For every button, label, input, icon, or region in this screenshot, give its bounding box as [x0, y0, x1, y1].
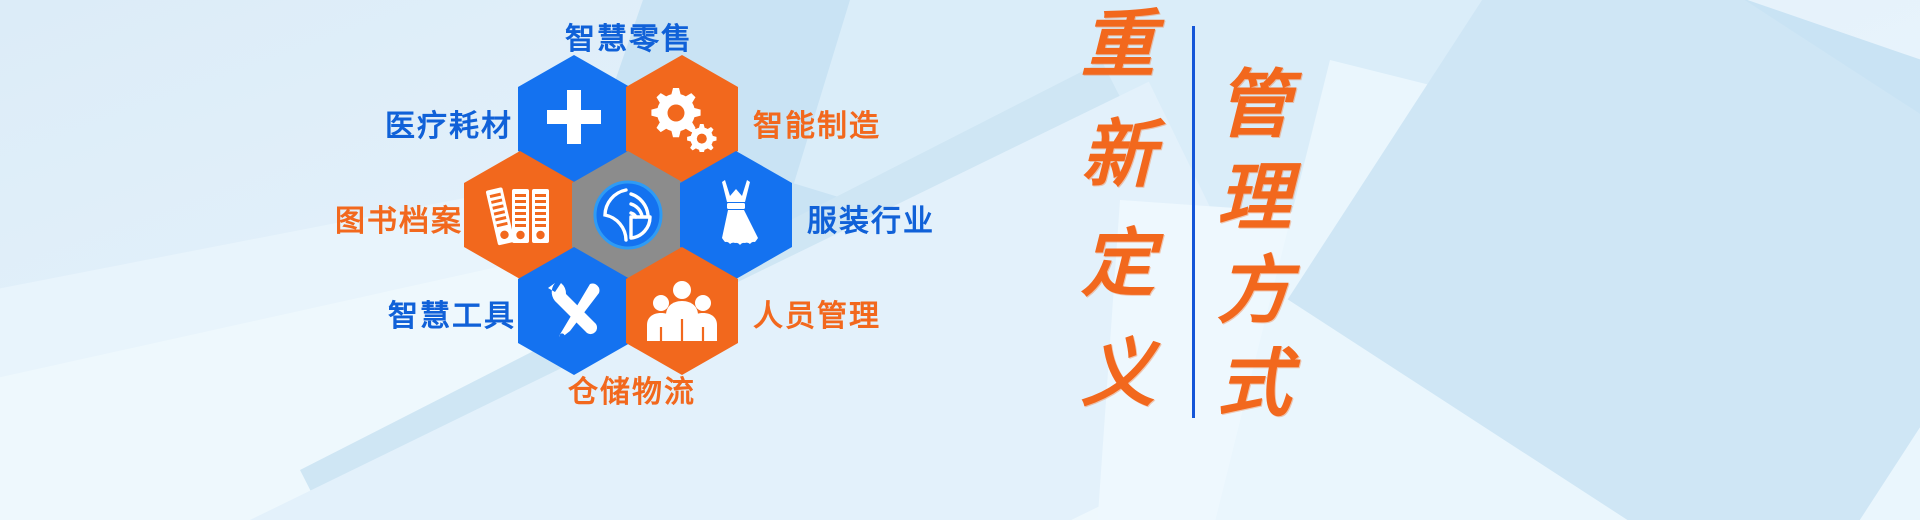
- label-books-archives: 图书档案: [335, 196, 463, 240]
- dress-icon: [703, 176, 769, 254]
- wrench-screwdriver-icon: [538, 275, 610, 347]
- slogan-block: 重 新 定 义 管 理 方 式: [1060, 10, 1320, 420]
- slogan-char: 义: [1081, 339, 1155, 410]
- label-apparel-industry: 服装行业: [807, 196, 935, 240]
- slogan-divider: [1192, 26, 1195, 418]
- industry-solutions-banner: 智慧零售 医疗耗材 智能制造 图书档案 服装行业 智慧工具 人员管理 仓储物流 …: [0, 0, 1920, 520]
- slogan-char: 新: [1081, 120, 1155, 191]
- medical-cross-icon: [543, 88, 605, 150]
- slogan-char: 管: [1217, 70, 1291, 141]
- gears-icon: [647, 86, 717, 152]
- label-personnel-management: 人员管理: [753, 291, 881, 335]
- slogan-char: 方: [1217, 256, 1291, 327]
- slogan-char: 重: [1081, 10, 1155, 81]
- label-medical-consumables: 医疗耗材: [385, 101, 513, 145]
- background-decoration: [0, 0, 1920, 520]
- slogan-column-right: 管 理 方 式: [1208, 70, 1300, 420]
- binders-icon: [484, 179, 556, 251]
- platform-logo-icon: [590, 177, 666, 253]
- label-smart-retail: 智慧零售: [565, 14, 693, 58]
- slogan-column-left: 重 新 定 义: [1072, 10, 1164, 410]
- slogan-char: 定: [1081, 229, 1155, 300]
- label-smart-tools: 智慧工具: [388, 291, 516, 335]
- label-smart-manufacturing: 智能制造: [753, 101, 881, 145]
- slogan-char: 式: [1217, 349, 1291, 420]
- slogan-char: 理: [1217, 163, 1291, 234]
- people-group-icon: [646, 279, 718, 343]
- label-warehouse-logistics: 仓储物流: [568, 367, 696, 411]
